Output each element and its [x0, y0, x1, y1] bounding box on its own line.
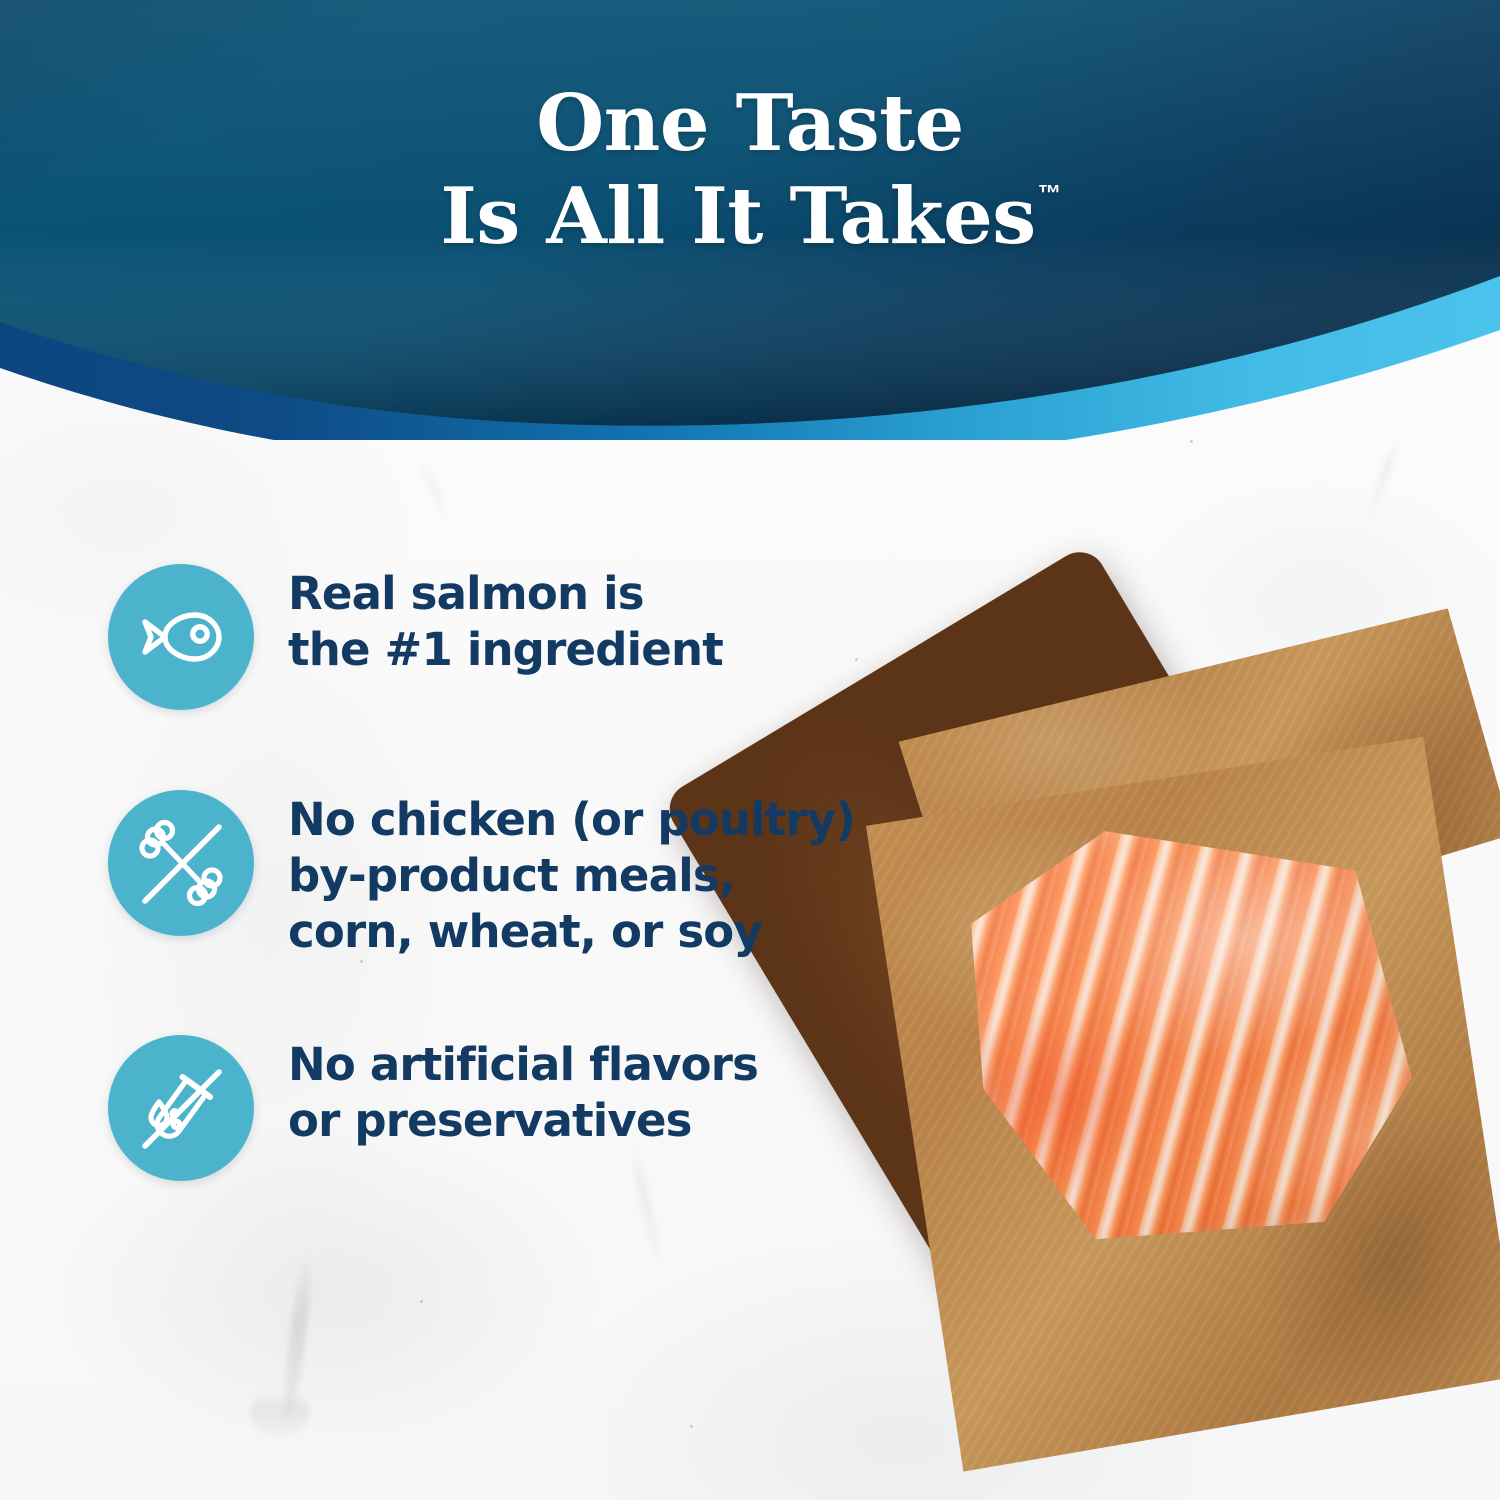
headline-line-2-wrap: Is All It Takes™: [440, 171, 1059, 264]
headline-line-2: Is All It Takes: [440, 171, 1035, 262]
header-banner: One Taste Is All It Takes™: [0, 0, 1500, 440]
no-bone-icon-badge: [108, 790, 254, 936]
page-headline: One Taste Is All It Takes™: [0, 78, 1500, 264]
feature-list: Real salmon is the #1 ingredient: [108, 560, 908, 1181]
feature-item-real-salmon: Real salmon is the #1 ingredient: [108, 560, 908, 710]
feature-text-no-artificial: No artificial flavors or preservatives: [288, 1031, 758, 1149]
marble-speck: [420, 1300, 423, 1303]
no-test-tube-icon-badge: [108, 1035, 254, 1181]
feature-text-no-chicken: No chicken (or poultry) by-product meals…: [288, 786, 855, 959]
marble-vein: [1365, 431, 1404, 519]
headline-line-1: One Taste: [0, 78, 1500, 171]
no-bone-icon: [133, 815, 229, 911]
marble-speck: [1190, 440, 1193, 443]
no-test-tube-icon: [133, 1060, 229, 1156]
trademark-symbol: ™: [1038, 180, 1062, 206]
feature-item-no-artificial: No artificial flavors or preservatives: [108, 1031, 908, 1181]
marble-speck: [690, 1425, 693, 1428]
product-feature-panel: One Taste Is All It Takes™ Real salmon i…: [0, 0, 1500, 1500]
feature-item-no-chicken: No chicken (or poultry) by-product meals…: [108, 786, 908, 959]
feature-text-real-salmon: Real salmon is the #1 ingredient: [288, 560, 723, 678]
fish-icon: [133, 589, 229, 685]
fish-icon-badge: [108, 564, 254, 710]
marble-vein: [250, 1390, 310, 1436]
marble-vein: [416, 456, 452, 523]
